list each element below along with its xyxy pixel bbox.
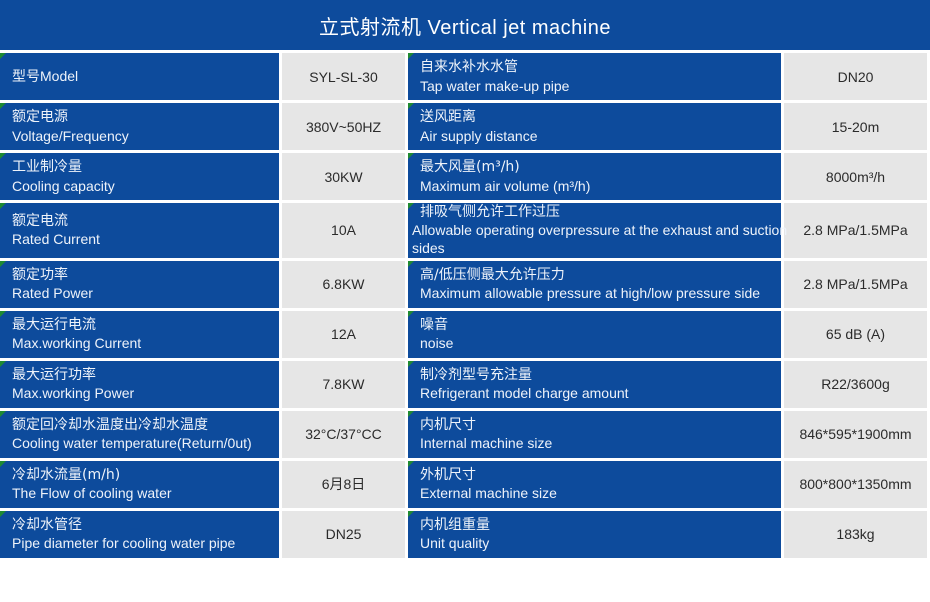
table-row: 最大运行电流Max.working Current12A噪音noise65 dB… — [0, 308, 930, 358]
spec-value-cell: 380V~50HZ — [282, 100, 408, 150]
spec-value-text: 380V~50HZ — [282, 119, 405, 135]
spec-value-text: 6月8日 — [282, 474, 405, 494]
spec-label-content: 噪音noise — [408, 316, 781, 353]
spec-label-english: Maximum allowable pressure at high/low p… — [420, 284, 781, 302]
spec-value-cell: 65 dB (A) — [784, 308, 930, 358]
spec-label-english: Refrigerant model charge amount — [420, 384, 781, 402]
spec-label-english: Cooling water temperature(Return/0ut) — [12, 434, 279, 452]
spec-label-content: 额定电源Voltage/Frequency — [0, 108, 279, 145]
table-row: 冷却水流量(m/h)The Flow of cooling water6月8日外… — [0, 458, 930, 508]
table-row: 额定回冷却水温度出冷却水温度Cooling water temperature(… — [0, 408, 930, 458]
spec-label-english: Allowable operating overpressure at the … — [412, 221, 807, 257]
spec-label-cell-left: 额定功率Rated Power — [0, 258, 282, 308]
spec-label-english: Max.working Power — [12, 384, 279, 402]
spec-value-cell: 12A — [282, 308, 408, 358]
spec-label-content: 型号Model — [0, 66, 279, 87]
spec-label-chinese: 工业制冷量 — [12, 158, 279, 176]
spec-label-english: Rated Power — [12, 284, 279, 302]
table-row: 型号ModelSYL-SL-30自来水补水水管Tap water make-up… — [0, 50, 930, 100]
spec-label-english: Air supply distance — [420, 127, 781, 145]
spec-value-text: 12A — [282, 326, 405, 342]
spec-value-cell: 183kg — [784, 508, 930, 558]
page-title: 立式射流机 Vertical jet machine — [0, 0, 930, 50]
spec-value-text: 6.8KW — [282, 276, 405, 292]
table-row: 冷却水管径Pipe diameter for cooling water pip… — [0, 508, 930, 558]
table-row: 额定功率Rated Power6.8KW高/低压侧最大允许压力Maximum a… — [0, 258, 930, 308]
spec-label-english: noise — [420, 334, 781, 352]
specification-table-body: 型号ModelSYL-SL-30自来水补水水管Tap water make-up… — [0, 50, 930, 558]
spec-label-chinese: 最大运行电流 — [12, 316, 279, 334]
spec-label-chinese: 最大风量(m³/h) — [420, 158, 781, 176]
spec-label-content: 高/低压侧最大允许压力Maximum allowable pressure at… — [408, 266, 781, 303]
spec-value-cell: 8000m³/h — [784, 150, 930, 200]
spec-label-chinese: 内机尺寸 — [420, 416, 781, 434]
spec-label-cell-left: 型号Model — [0, 50, 282, 100]
table-row: 额定电源Voltage/Frequency380V~50HZ送风距离Air su… — [0, 100, 930, 150]
spec-label-cell-left: 冷却水流量(m/h)The Flow of cooling water — [0, 458, 282, 508]
spec-label-chinese: 冷却水管径 — [12, 516, 279, 534]
spec-value-text: 2.8 MPa/1.5MPa — [784, 276, 927, 292]
spec-label-cell-right: 排吸气侧允许工作过压Allowable operating overpressu… — [408, 200, 784, 258]
spec-value-cell: 30KW — [282, 150, 408, 200]
spec-label-content: 排吸气侧允许工作过压Allowable operating overpressu… — [408, 203, 781, 258]
spec-label-english: Cooling capacity — [12, 177, 279, 195]
spec-value-text: 183kg — [784, 526, 927, 542]
spec-value-text: 32°C/37°CC — [282, 426, 405, 442]
spec-value-cell: DN25 — [282, 508, 408, 558]
spec-label-content: 内机尺寸Internal machine size — [408, 416, 781, 453]
spec-value-text: 846*595*1900mm — [784, 426, 927, 442]
spec-label-cell-right: 送风距离Air supply distance — [408, 100, 784, 150]
spec-label-cell-right: 最大风量(m³/h)Maximum air volume (m³/h) — [408, 150, 784, 200]
spec-label-content: 制冷剂型号充注量Refrigerant model charge amount — [408, 366, 781, 403]
cell-warning-triangle-icon — [0, 53, 6, 59]
spec-value-cell: 15-20m — [784, 100, 930, 150]
spec-label-chinese: 内机组重量 — [420, 516, 781, 534]
spec-label-cell-right: 噪音noise — [408, 308, 784, 358]
spec-label-content: 额定电流Rated Current — [0, 212, 279, 249]
spec-label-english: Maximum air volume (m³/h) — [420, 177, 781, 195]
spec-value-cell: SYL-SL-30 — [282, 50, 408, 100]
spec-label-cell-left: 额定电源Voltage/Frequency — [0, 100, 282, 150]
spec-label-cell-left: 工业制冷量Cooling capacity — [0, 150, 282, 200]
spec-value-cell: 800*800*1350mm — [784, 458, 930, 508]
spec-value-cell: R22/3600g — [784, 358, 930, 408]
spec-label-chinese: 额定电流 — [12, 212, 279, 230]
spec-label-chinese: 额定回冷却水温度出冷却水温度 — [12, 416, 279, 434]
spec-label-chinese: 排吸气侧允许工作过压 — [420, 203, 781, 221]
spec-label-chinese: 额定功率 — [12, 266, 279, 284]
spec-label-cell-right: 外机尺寸External machine size — [408, 458, 784, 508]
spec-label-chinese: 额定电源 — [12, 108, 279, 126]
spec-value-text: 2.8 MPa/1.5MPa — [784, 222, 927, 238]
spec-value-text: 8000m³/h — [784, 169, 927, 185]
spec-value-cell: 7.8KW — [282, 358, 408, 408]
spec-label-content: 最大运行电流Max.working Current — [0, 316, 279, 353]
spec-label-chinese: 型号 — [12, 69, 40, 85]
spec-label-content: 冷却水管径Pipe diameter for cooling water pip… — [0, 516, 279, 553]
spec-label-english: Tap water make-up pipe — [420, 77, 781, 95]
spec-label-cell-right: 内机尺寸Internal machine size — [408, 408, 784, 458]
spec-value-text: 10A — [282, 222, 405, 238]
spec-label-cell-left: 额定电流Rated Current — [0, 200, 282, 258]
spec-label-chinese: 制冷剂型号充注量 — [420, 366, 781, 384]
spec-label-content: 内机组重量Unit quality — [408, 516, 781, 553]
spec-label-english: Pipe diameter for cooling water pipe — [12, 534, 279, 552]
spec-value-text: R22/3600g — [784, 376, 927, 392]
specification-table: 型号ModelSYL-SL-30自来水补水水管Tap water make-up… — [0, 50, 930, 558]
spec-value-cell: DN20 — [784, 50, 930, 100]
spec-label-english: External machine size — [420, 484, 781, 502]
spec-label-cell-right: 制冷剂型号充注量Refrigerant model charge amount — [408, 358, 784, 408]
spec-value-text: DN25 — [282, 526, 405, 542]
spec-label-english: Voltage/Frequency — [12, 127, 279, 145]
cell-warning-triangle-icon — [0, 203, 6, 209]
spec-label-content: 自来水补水水管Tap water make-up pipe — [408, 58, 781, 95]
table-row: 工业制冷量Cooling capacity30KW最大风量(m³/h)Maxim… — [0, 150, 930, 200]
spec-label-content: 外机尺寸External machine size — [408, 466, 781, 503]
spec-label-content: 工业制冷量Cooling capacity — [0, 158, 279, 195]
spec-value-text: SYL-SL-30 — [282, 69, 405, 85]
spec-label-english: Rated Current — [12, 230, 279, 248]
spec-label-cell-right: 自来水补水水管Tap water make-up pipe — [408, 50, 784, 100]
spec-label-chinese: 高/低压侧最大允许压力 — [420, 266, 781, 284]
spec-label-english: Max.working Current — [12, 334, 279, 352]
spec-value-cell: 846*595*1900mm — [784, 408, 930, 458]
spec-value-text: 65 dB (A) — [784, 326, 927, 342]
spec-label-cell-left: 最大运行功率Max.working Power — [0, 358, 282, 408]
spec-value-cell: 6月8日 — [282, 458, 408, 508]
spec-label-chinese: 噪音 — [420, 316, 781, 334]
spec-label-cell-left: 额定回冷却水温度出冷却水温度Cooling water temperature(… — [0, 408, 282, 458]
spec-value-cell: 2.8 MPa/1.5MPa — [784, 258, 930, 308]
spec-label-english: The Flow of cooling water — [12, 484, 279, 502]
spec-label-content: 额定功率Rated Power — [0, 266, 279, 303]
spec-label-english: Unit quality — [420, 534, 781, 552]
spec-label-content: 送风距离Air supply distance — [408, 108, 781, 145]
spec-label-content: 最大风量(m³/h)Maximum air volume (m³/h) — [408, 158, 781, 195]
spec-label-cell-right: 内机组重量Unit quality — [408, 508, 784, 558]
table-row: 最大运行功率Max.working Power7.8KW制冷剂型号充注量Refr… — [0, 358, 930, 408]
page-title-text: 立式射流机 Vertical jet machine — [319, 11, 611, 40]
spec-label-content: 最大运行功率Max.working Power — [0, 366, 279, 403]
spec-label-chinese: 送风距离 — [420, 108, 781, 126]
spec-value-text: 30KW — [282, 169, 405, 185]
spec-label-chinese: 最大运行功率 — [12, 366, 279, 384]
spec-label-chinese: 自来水补水水管 — [420, 58, 781, 76]
spec-label-english: Internal machine size — [420, 434, 781, 452]
spec-label-content: 额定回冷却水温度出冷却水温度Cooling water temperature(… — [0, 416, 279, 453]
spec-label-english: Model — [40, 68, 78, 84]
spec-label-cell-left: 冷却水管径Pipe diameter for cooling water pip… — [0, 508, 282, 558]
spec-value-text: 7.8KW — [282, 376, 405, 392]
spec-value-text: 800*800*1350mm — [784, 476, 927, 492]
table-row: 额定电流Rated Current10A排吸气侧允许工作过压Allowable … — [0, 200, 930, 258]
spec-label-cell-right: 高/低压侧最大允许压力Maximum allowable pressure at… — [408, 258, 784, 308]
spec-value-cell: 32°C/37°CC — [282, 408, 408, 458]
spec-label-chinese: 外机尺寸 — [420, 466, 781, 484]
spec-value-cell: 6.8KW — [282, 258, 408, 308]
spec-value-cell: 10A — [282, 200, 408, 258]
spec-value-text: 15-20m — [784, 119, 927, 135]
spec-value-text: DN20 — [784, 69, 927, 85]
spec-label-chinese: 冷却水流量(m/h) — [12, 466, 279, 484]
spec-label-cell-left: 最大运行电流Max.working Current — [0, 308, 282, 358]
spec-label-content: 冷却水流量(m/h)The Flow of cooling water — [0, 466, 279, 503]
